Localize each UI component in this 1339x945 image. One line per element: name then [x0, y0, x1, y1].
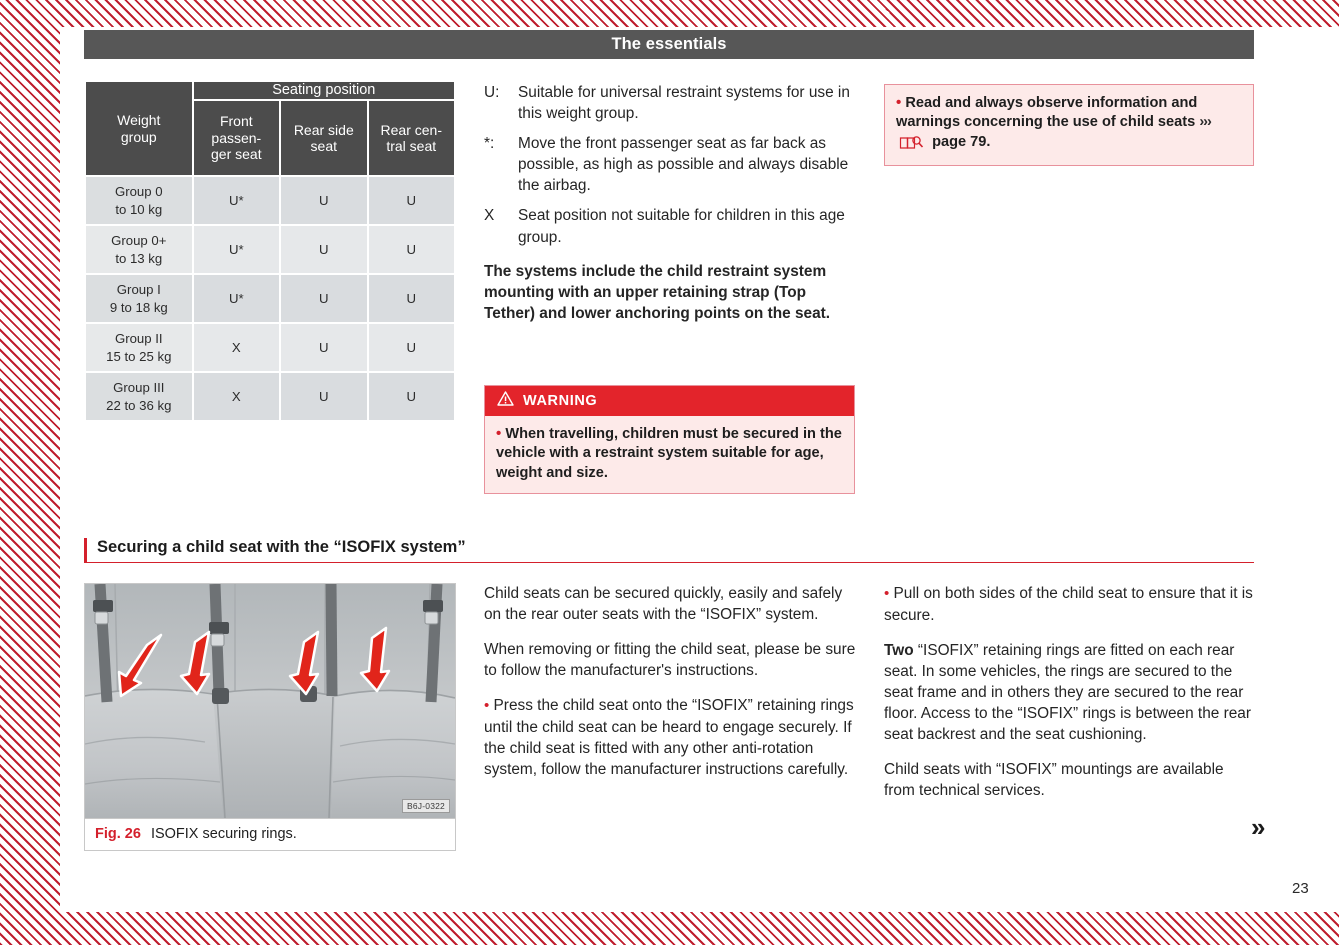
body-column-right: • Pull on both sides of the child seat t… [884, 583, 1256, 801]
table-row: Group 0 to 10 kg U* U U [86, 177, 454, 224]
legend-key: *: [484, 133, 518, 196]
cell-front-passenger: U* [194, 275, 279, 322]
row-weight-group: Group 0 to 10 kg [86, 177, 192, 224]
paragraph-lead-word: Two [884, 642, 914, 659]
col-label-line: Front [194, 113, 279, 130]
row-weight-range: to 10 kg [86, 201, 192, 218]
bullet-icon: • [484, 697, 489, 714]
cell-rear-side: U [281, 226, 366, 273]
warning-triangle-icon [497, 391, 514, 410]
legend-key: U: [484, 82, 518, 124]
table-row: Group II 15 to 25 kg X U U [86, 324, 454, 371]
book-magnifier-icon [899, 135, 925, 156]
row-group-name: Group 0 [86, 183, 192, 200]
table-header-weight-group: Weight group [86, 82, 192, 175]
paragraph-bulleted: • Press the child seat onto the “ISOFIX”… [484, 695, 856, 780]
note-box-child-seats: • Read and always observe information an… [884, 84, 1254, 166]
cell-rear-side: U [281, 324, 366, 371]
col-label-line: Rear side [281, 122, 366, 139]
systems-include-note: The systems include the child restraint … [484, 261, 856, 324]
col-label-line: Rear cen- [369, 122, 454, 139]
section-heading-isofix: Securing a child seat with the “ISOFIX s… [84, 538, 1254, 563]
child-seat-compatibility-table: Weight group Seating position Front pass… [84, 80, 456, 422]
paragraph: Child seats with “ISOFIX” mountings are … [884, 759, 1256, 801]
cell-front-passenger: X [194, 324, 279, 371]
table-header-rear-side-seat: Rear side seat [281, 101, 366, 175]
legend-text: Seat position not suitable for children … [518, 205, 856, 247]
legend-item-u: U: Suitable for universal restraint syst… [484, 82, 856, 124]
row-weight-range: 22 to 36 kg [86, 397, 192, 414]
figure-caption-text: ISOFIX securing rings. [151, 826, 297, 842]
col-label-line: tral seat [369, 138, 454, 155]
weight-group-line2: group [86, 129, 192, 146]
row-weight-range: 15 to 25 kg [86, 348, 192, 365]
paragraph: Two “ISOFIX” retaining rings are fitted … [884, 640, 1256, 745]
legend-item-x: X Seat position not suitable for childre… [484, 205, 856, 247]
continuation-chevron-icon: » [1251, 812, 1263, 843]
legend-item-asterisk: *: Move the front passenger seat as far … [484, 133, 856, 196]
note-text: Read and always observe information and … [896, 95, 1197, 130]
paragraph-text: Child seats can be secured quickly, easi… [484, 585, 842, 623]
cell-rear-central: U [369, 373, 454, 420]
row-weight-group: Group I 9 to 18 kg [86, 275, 192, 322]
cell-rear-side: U [281, 177, 366, 224]
table-header-seating-position: Seating position [194, 82, 454, 99]
legend-column: U: Suitable for universal restraint syst… [484, 82, 856, 324]
row-weight-range: to 13 kg [86, 250, 192, 267]
figure-caption: Fig. 26 ISOFIX securing rings. [85, 818, 455, 850]
cell-rear-central: U [369, 177, 454, 224]
paragraph-bulleted: • Pull on both sides of the child seat t… [884, 583, 1256, 626]
cell-rear-central: U [369, 324, 454, 371]
figure-image: B6J-0322 [85, 584, 455, 818]
paragraph-text: Press the child seat onto the “ISOFIX” r… [484, 697, 854, 778]
row-weight-group: Group II 15 to 25 kg [86, 324, 192, 371]
page-header-banner: The essentials [84, 30, 1254, 59]
table-row: Group 0+ to 13 kg U* U U [86, 226, 454, 273]
paragraph: When removing or fitting the child seat,… [484, 639, 856, 681]
row-group-name: Group I [86, 281, 192, 298]
table-row: Group I 9 to 18 kg U* U U [86, 275, 454, 322]
paragraph-text: When removing or fitting the child seat,… [484, 641, 855, 679]
warning-text: When travelling, children must be secure… [496, 426, 842, 481]
warning-body: • When travelling, children must be secu… [485, 416, 854, 493]
row-weight-group: Group 0+ to 13 kg [86, 226, 192, 273]
page-number: 23 [1292, 880, 1309, 897]
row-weight-group: Group III 22 to 36 kg [86, 373, 192, 420]
legend-text: Move the front passenger seat as far bac… [518, 133, 856, 196]
bullet-icon: • [896, 94, 901, 111]
col-label-line: ger seat [194, 146, 279, 163]
page-header-title: The essentials [611, 35, 726, 54]
row-weight-range: 9 to 18 kg [86, 299, 192, 316]
warning-box: WARNING • When travelling, children must… [484, 385, 855, 494]
col-label-line: seat [281, 138, 366, 155]
body-column-middle: Child seats can be secured quickly, easi… [484, 583, 856, 780]
warning-label: WARNING [523, 393, 597, 409]
cell-front-passenger: U* [194, 177, 279, 224]
table-header-rear-central-seat: Rear cen- tral seat [369, 101, 454, 175]
col-label-line: passen- [194, 130, 279, 147]
paragraph-text: Pull on both sides of the child seat to … [884, 585, 1253, 624]
legend-text: Suitable for universal restraint systems… [518, 82, 856, 124]
table-row: Group III 22 to 36 kg X U U [86, 373, 454, 420]
cell-front-passenger: U* [194, 226, 279, 273]
cell-front-passenger: X [194, 373, 279, 420]
cell-rear-side: U [281, 373, 366, 420]
weight-group-line1: Weight [86, 112, 192, 129]
paragraph: Child seats can be secured quickly, easi… [484, 583, 856, 625]
figure-isofix: B6J-0322 Fig. 26 ISOFIX securing rings. [84, 583, 456, 851]
legend-key: X [484, 205, 518, 247]
paragraph-text: “ISOFIX” retaining rings are fitted on e… [884, 642, 1251, 743]
bullet-icon: • [884, 585, 889, 602]
page-reference: page 79. [932, 134, 990, 150]
figure-image-code: B6J-0322 [402, 799, 450, 813]
row-group-name: Group II [86, 330, 192, 347]
cell-rear-central: U [369, 275, 454, 322]
table-header-row-1: Weight group Seating position [86, 82, 454, 99]
bullet-icon: • [496, 425, 501, 442]
paragraph-text: Child seats with “ISOFIX” mountings are … [884, 761, 1224, 799]
figure-number: Fig. 26 [95, 826, 141, 842]
row-group-name: Group 0+ [86, 232, 192, 249]
table-header-front-passenger-seat: Front passen- ger seat [194, 101, 279, 175]
rear-seat-illustration [85, 584, 455, 818]
row-group-name: Group III [86, 379, 192, 396]
warning-header: WARNING [485, 386, 854, 416]
cell-rear-central: U [369, 226, 454, 273]
cross-reference-arrows-icon: ››› [1199, 114, 1211, 130]
cell-rear-side: U [281, 275, 366, 322]
